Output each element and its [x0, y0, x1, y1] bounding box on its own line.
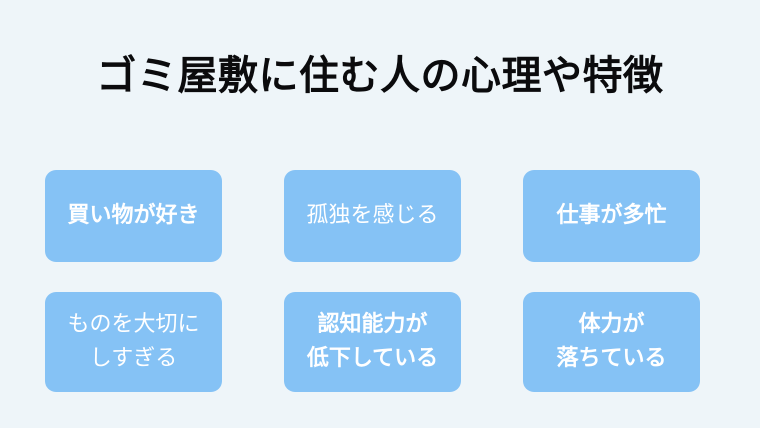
card-cognitive-decline[interactable]: 認知能力が 低下している [284, 292, 461, 392]
card-label: ものを大切に しすぎる [67, 308, 199, 376]
card-feels-lonely[interactable]: 孤独を感じる [284, 170, 461, 262]
card-work-busy[interactable]: 仕事が多忙 [523, 170, 700, 262]
slide-canvas: ゴミ屋敷に住む人の心理や特徴 買い物が好き 孤独を感じる 仕事が多忙 ものを大切… [0, 0, 760, 428]
feature-card-grid: 買い物が好き 孤独を感じる 仕事が多忙 ものを大切に しすぎる 認知能力が 低下… [45, 170, 700, 392]
card-label: 体力が 落ちている [556, 308, 666, 376]
card-row-bottom: ものを大切に しすぎる 認知能力が 低下している 体力が 落ちている [45, 292, 700, 392]
card-label: 買い物が好き [67, 201, 199, 231]
card-row-top: 買い物が好き 孤独を感じる 仕事が多忙 [45, 170, 700, 262]
card-physical-decline[interactable]: 体力が 落ちている [523, 292, 700, 392]
card-label: 仕事が多忙 [556, 201, 666, 231]
card-values-things[interactable]: ものを大切に しすぎる [45, 292, 222, 392]
card-shopping-lover[interactable]: 買い物が好き [45, 170, 222, 262]
card-label: 孤独を感じる [306, 201, 438, 231]
card-label: 認知能力が 低下している [307, 308, 438, 376]
page-title: ゴミ屋敷に住む人の心理や特徴 [0, 52, 760, 100]
